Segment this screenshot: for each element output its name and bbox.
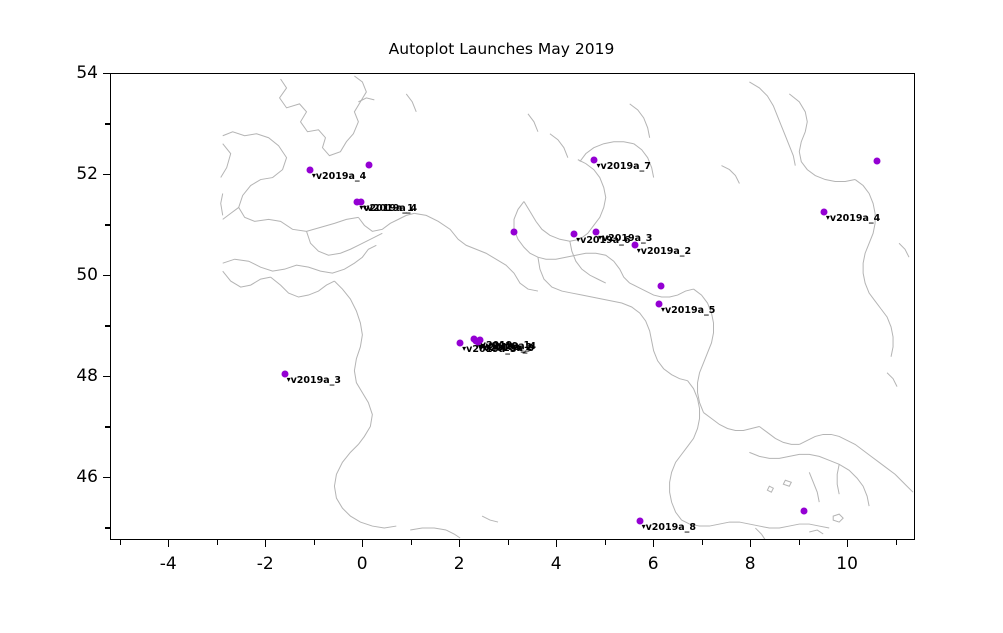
data-point[interactable] bbox=[658, 283, 665, 290]
x-tick-major bbox=[556, 540, 557, 547]
x-tick-minor bbox=[702, 540, 703, 545]
page-title: Autoplot Launches May 2019 bbox=[0, 40, 1003, 58]
x-tick-minor bbox=[314, 540, 315, 545]
x-tick-label: -2 bbox=[257, 554, 274, 574]
y-tick-minor bbox=[105, 224, 110, 225]
x-tick-label: 4 bbox=[551, 554, 562, 574]
y-tick-major bbox=[103, 73, 110, 74]
y-tick-minor bbox=[105, 527, 110, 528]
x-tick-minor bbox=[896, 540, 897, 545]
data-point[interactable] bbox=[874, 157, 881, 164]
y-tick-major bbox=[103, 275, 110, 276]
y-tick-label: 52 bbox=[48, 164, 98, 184]
data-point[interactable] bbox=[510, 228, 517, 235]
data-point-label: ▾v2019a_2 bbox=[637, 246, 691, 257]
x-tick-minor bbox=[411, 540, 412, 545]
data-point-label: ▾v2019a_4 bbox=[482, 341, 536, 352]
data-point[interactable] bbox=[365, 161, 372, 168]
x-tick-label: 8 bbox=[745, 554, 756, 574]
x-tick-label: -4 bbox=[160, 554, 177, 574]
y-tick-minor bbox=[105, 426, 110, 427]
x-tick-major bbox=[265, 540, 266, 547]
data-point-label: ▾v2019a_7 bbox=[596, 161, 650, 172]
data-point-label: ▾v2019a_4 bbox=[312, 171, 366, 182]
map-axes: ▾v2019a_4▾v2019a_1▾v2019a_4▾v2019a_7▾v20… bbox=[110, 73, 915, 540]
y-tick-major bbox=[103, 376, 110, 377]
x-tick-label: 6 bbox=[648, 554, 659, 574]
x-tick-label: 10 bbox=[836, 554, 858, 574]
y-tick-label: 46 bbox=[48, 467, 98, 487]
x-tick-minor bbox=[217, 540, 218, 545]
data-point-label: ▾v2019a_3 bbox=[598, 233, 652, 244]
data-point-label: ▾v2019a_4 bbox=[363, 203, 417, 214]
y-tick-label: 54 bbox=[48, 63, 98, 83]
x-tick-minor bbox=[120, 540, 121, 545]
x-tick-label: 0 bbox=[357, 554, 368, 574]
y-tick-minor bbox=[105, 325, 110, 326]
data-point-label: ▾v2019a_5 bbox=[661, 305, 715, 316]
y-tick-label: 50 bbox=[48, 265, 98, 285]
y-tick-major bbox=[103, 477, 110, 478]
x-tick-major bbox=[750, 540, 751, 547]
coastline-map bbox=[111, 74, 914, 539]
data-point[interactable] bbox=[801, 507, 808, 514]
y-tick-major bbox=[103, 174, 110, 175]
y-tick-minor bbox=[105, 123, 110, 124]
x-tick-major bbox=[168, 540, 169, 547]
x-tick-major bbox=[362, 540, 363, 547]
x-tick-minor bbox=[508, 540, 509, 545]
y-tick-label: 48 bbox=[48, 366, 98, 386]
x-tick-minor bbox=[605, 540, 606, 545]
data-point-label: ▾v2019a_3 bbox=[287, 375, 341, 386]
data-point-label: ▾v2019a_8 bbox=[642, 522, 696, 533]
x-tick-minor bbox=[799, 540, 800, 545]
plot-figure: Autoplot Launches May 2019 bbox=[0, 0, 1003, 633]
x-tick-major bbox=[847, 540, 848, 547]
x-tick-label: 2 bbox=[454, 554, 465, 574]
x-tick-major bbox=[459, 540, 460, 547]
data-point-label: ▾v2019a_4 bbox=[826, 213, 880, 224]
x-tick-major bbox=[653, 540, 654, 547]
